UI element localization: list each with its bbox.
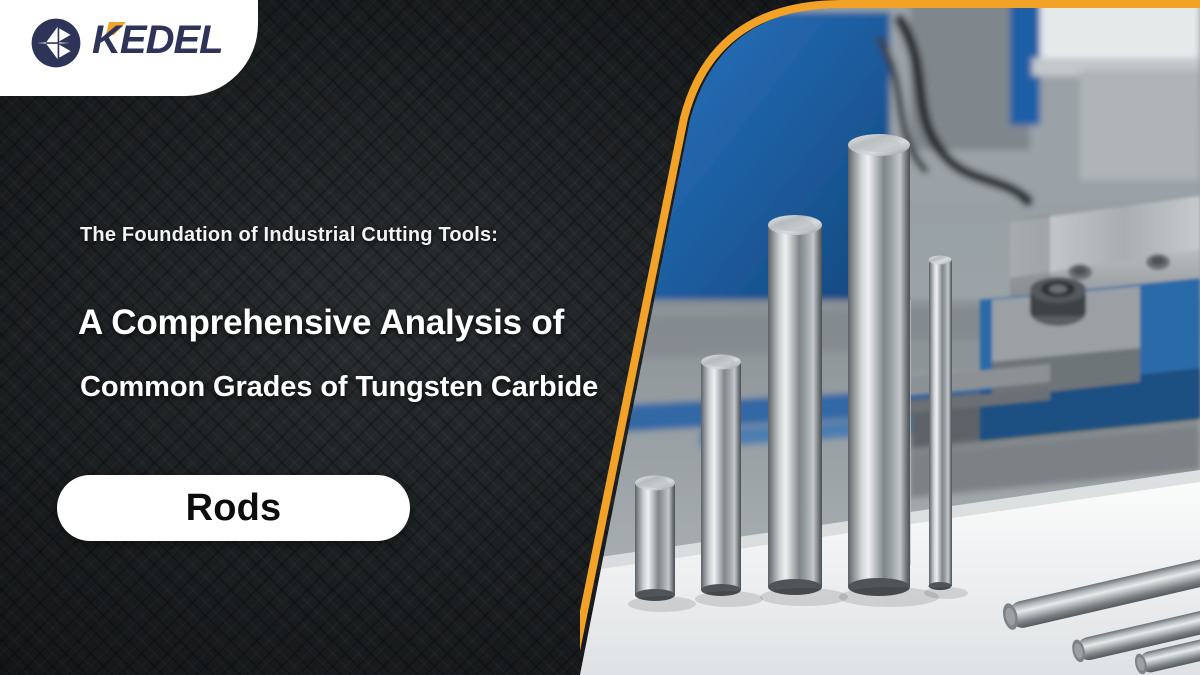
promo-banner: KEDEL The Foundation of Industrial Cutti…: [0, 0, 1200, 675]
kedel-arrow-circle-logo-icon: [30, 17, 82, 69]
headline-line-1: A Comprehensive Analysis of: [78, 303, 564, 343]
svg-text:KEDEL: KEDEL: [92, 18, 223, 62]
brand-logo[interactable]: KEDEL: [30, 16, 244, 69]
brand-wordmark: KEDEL: [92, 16, 244, 69]
category-pill-label: Rods: [186, 487, 282, 530]
headline-line-2: Common Grades of Tungsten Carbide: [80, 371, 598, 404]
category-pill[interactable]: Rods: [57, 475, 410, 541]
hero-photo-svg: [580, 0, 1200, 675]
eyebrow-text: The Foundation of Industrial Cutting Too…: [80, 224, 498, 247]
text-block: The Foundation of Industrial Cutting Too…: [0, 0, 640, 675]
hero-photo: [580, 0, 1200, 675]
kedel-wordmark-svg: KEDEL: [92, 16, 244, 62]
